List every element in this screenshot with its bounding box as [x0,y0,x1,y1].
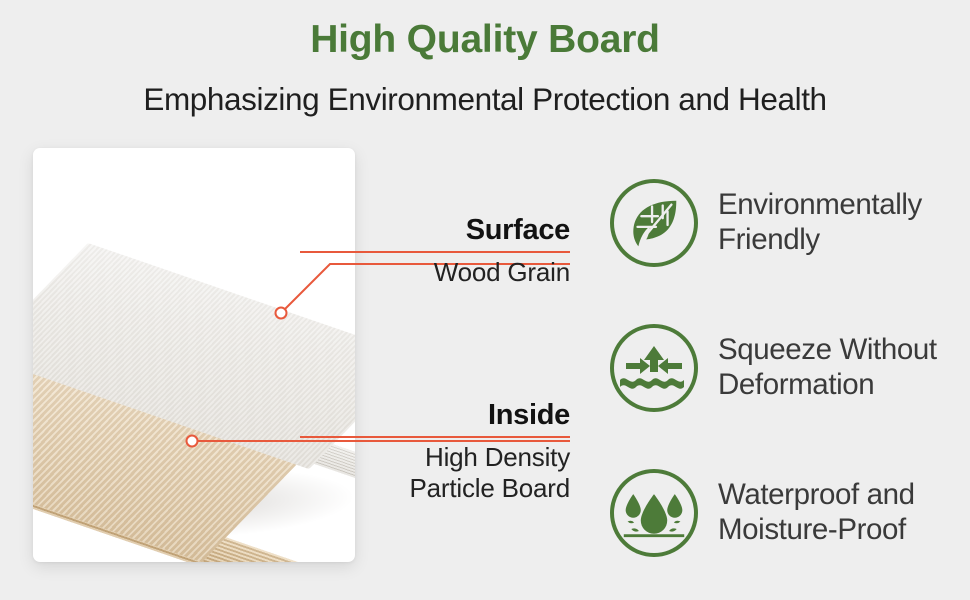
feature-label-line2: Deformation [718,368,937,402]
feature-squeeze-without-deformation: Squeeze Without Deformation [610,295,965,440]
feature-label-line2: Friendly [718,223,922,257]
feature-waterproof-moisture-proof: Waterproof and Moisture-Proof [610,440,965,585]
feature-waterproof-moisture-proof-label: Waterproof and Moisture-Proof [718,478,915,546]
water-droplets-icon [610,469,698,557]
callout-surface: Surface Wood Grain [300,215,570,288]
feature-environmentally-friendly: Environmentally Friendly [610,150,965,295]
callout-inside-title: Inside [300,400,570,430]
leaf-icon [610,179,698,267]
page-title: High Quality Board [0,20,970,59]
callout-inside-description: High Density Particle Board [300,442,570,503]
feature-label-line1: Environmentally [718,188,922,222]
feature-label-line1: Waterproof and [718,478,915,512]
feature-squeeze-without-deformation-label: Squeeze Without Deformation [718,333,937,401]
callout-inside-description-line1: High Density [300,442,570,473]
feature-label-line2: Moisture-Proof [718,513,915,547]
callout-surface-title: Surface [300,215,570,245]
callout-surface-rule [300,251,570,253]
page-subtitle: Emphasizing Environmental Protection and… [0,84,970,116]
callout-surface-description: Wood Grain [300,257,570,288]
squeeze-arrows-wave-icon [610,324,698,412]
feature-environmentally-friendly-label: Environmentally Friendly [718,188,922,256]
feature-label-line1: Squeeze Without [718,333,937,367]
callout-inside-rule [300,436,570,438]
callout-inside-description-line2: Particle Board [300,473,570,504]
infographic-canvas: High Quality Board Emphasizing Environme… [0,0,970,600]
feature-list: Environmentally Friendly [610,150,965,585]
callout-inside: Inside High Density Particle Board [300,400,570,504]
